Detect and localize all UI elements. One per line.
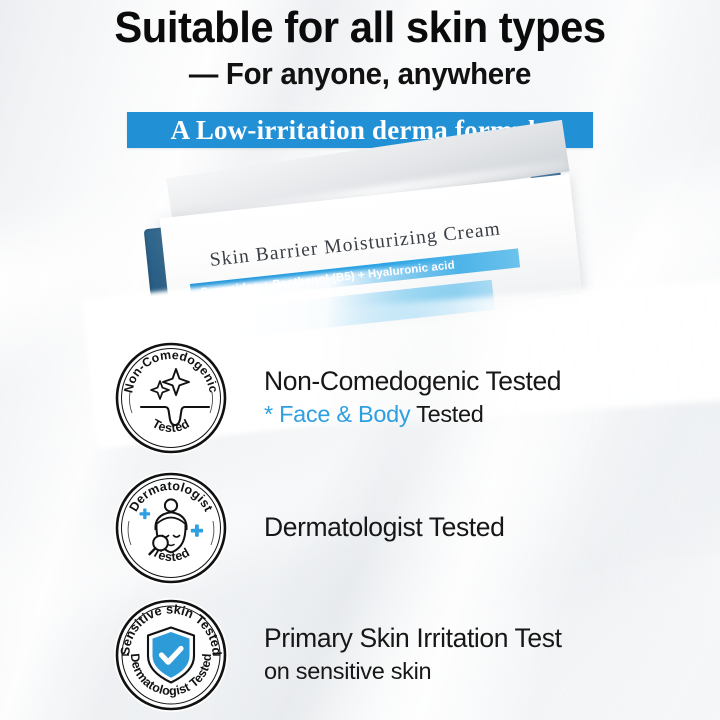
claim-row-dermatologist: Dermatologist Tested — [110, 467, 710, 589]
dermatologist-seal-icon: Dermatologist Tested — [110, 467, 232, 589]
claim-text-dermatologist: Dermatologist Tested — [264, 512, 504, 543]
claim-line-2: * Face & Body Tested — [264, 399, 561, 430]
claim-line-2: on sensitive skin — [264, 656, 562, 687]
sensitive-skin-shield-seal-icon: Sensitive skin Tested Dermatologist Test… — [110, 594, 232, 716]
claim-line-1: Non-Comedogenic Tested — [264, 366, 561, 397]
product-box-image: Skin Barrier Moisturizing Cream Ceramide… — [148, 166, 598, 351]
claim-line-2-accent: * Face & Body — [264, 401, 410, 427]
page-headline: Suitable for all skin types — [18, 6, 702, 51]
claim-text-non-comedogenic: Non-Comedogenic Tested * Face & Body Tes… — [264, 366, 561, 430]
marketing-banner-canvas: Suitable for all skin types — For anyone… — [0, 0, 720, 720]
non-comedogenic-seal-icon: Non-Comedogenic Tested — [110, 337, 232, 459]
claim-text-sensitive-skin: Primary Skin Irritation Test on sensitiv… — [264, 623, 562, 687]
claim-row-non-comedogenic: Non-Comedogenic Tested Non-Comedogenic T… — [110, 337, 710, 459]
claim-line-1: Dermatologist Tested — [264, 512, 504, 543]
page-subheadline: — For anyone, anywhere — [18, 58, 702, 91]
claim-line-2-rest: Tested — [410, 401, 483, 427]
claim-row-sensitive-skin: Sensitive skin Tested Dermatologist Test… — [110, 594, 710, 716]
claim-line-2-rest: on sensitive skin — [264, 658, 431, 684]
claim-line-1: Primary Skin Irritation Test — [264, 623, 562, 654]
